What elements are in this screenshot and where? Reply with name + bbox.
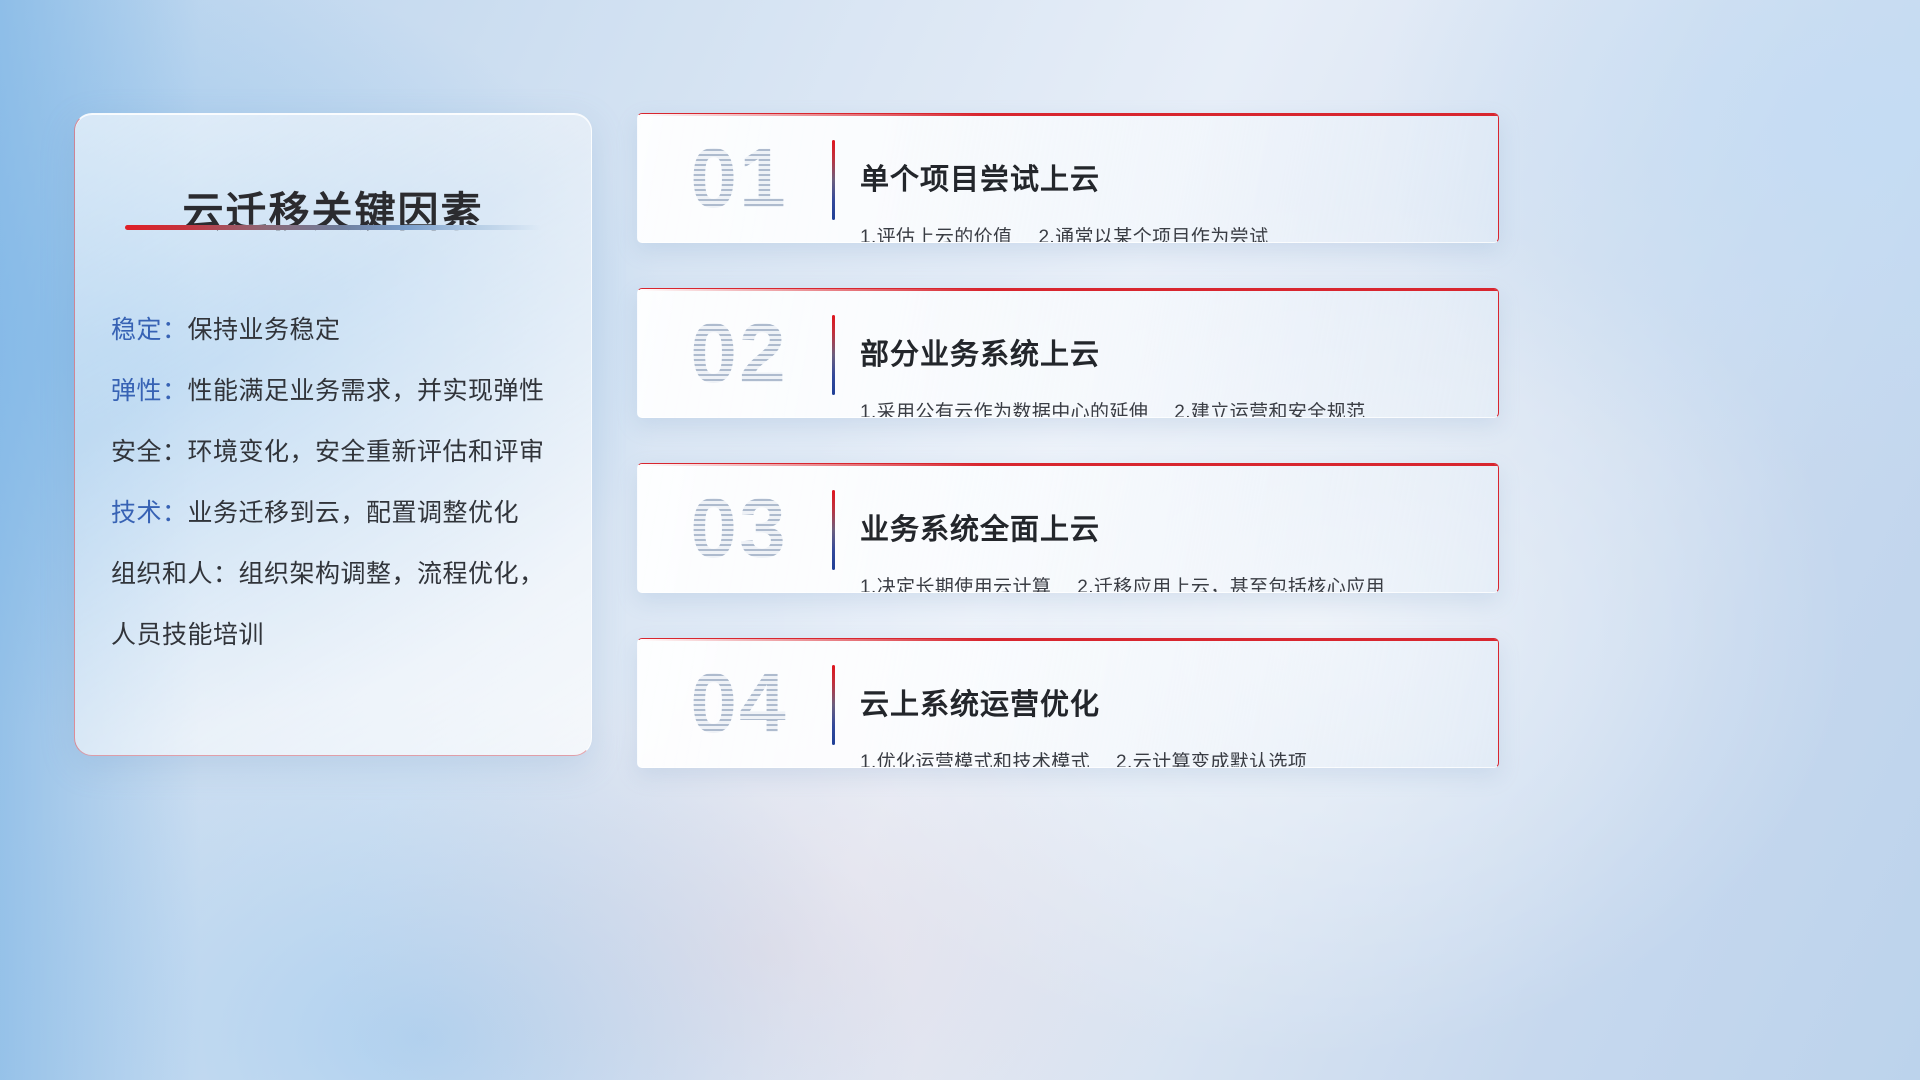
stage-card[interactable]: 04 04 云上系统运营优化 1.优化运营模式和技术模式2.云计算变成默认选项 [637,638,1499,768]
stage-desc-2: 2.建立运营和安全规范 [1174,402,1365,418]
list-item: 组织和人：组织架构调整，流程优化， [111,544,565,605]
title-divider [125,225,541,230]
stage-title: 单个项目尝试上云 [860,160,1472,200]
stage-desc-1: 1.采用公有云作为数据中心的延伸 [860,402,1148,418]
accent-bar [832,140,835,220]
stage-description: 1.优化运营模式和技术模式2.云计算变成默认选项 [860,749,1472,768]
stage-desc-2: 2.云计算变成默认选项 [1116,752,1307,768]
accent-bar [832,490,835,570]
list-item: 弹性：性能满足业务需求，并实现弹性 [111,361,565,422]
key-factors-panel: 云迁移关键因素 稳定：保持业务稳定 弹性：性能满足业务需求，并实现弹性 安全：环… [74,113,592,756]
list-item-text: 人员技能培训 [111,621,264,649]
stage-number: 01 [664,124,814,232]
list-item: 人员技能培训 [111,605,565,666]
stage-number: 02 [664,299,814,407]
list-item: 稳定：保持业务稳定 [111,300,565,361]
stage-number: 04 [664,649,814,757]
stage-card[interactable]: 03 03 业务系统全面上云 1.决定长期使用云计算2.迁移应用上云，甚至包括核… [637,463,1499,593]
stage-card-body: 单个项目尝试上云 1.评估上云的价值2.通常以某个项目作为尝试 [860,136,1472,243]
stage-cards: 01 01 单个项目尝试上云 1.评估上云的价值2.通常以某个项目作为尝试 02… [637,113,1499,813]
list-item-text: 环境变化，安全重新评估和评审 [188,438,545,466]
stage-description: 1.评估上云的价值2.通常以某个项目作为尝试 [860,224,1472,243]
list-item: 技术：业务迁移到云，配置调整优化 [111,483,565,544]
stage-card-body: 业务系统全面上云 1.决定长期使用云计算2.迁移应用上云，甚至包括核心应用 [860,486,1472,593]
list-item-label: 稳定： [111,316,188,344]
stage-desc-1: 1.优化运营模式和技术模式 [860,752,1090,768]
stage-number: 03 [664,474,814,582]
list-item-label: 安全： [111,438,188,466]
stage-card-body: 部分业务系统上云 1.采用公有云作为数据中心的延伸2.建立运营和安全规范 [860,311,1472,418]
stage-description: 1.采用公有云作为数据中心的延伸2.建立运营和安全规范 [860,399,1472,418]
list-item-label: 组织和人： [111,560,239,588]
list-item-label: 弹性： [111,377,188,405]
stage-title: 云上系统运营优化 [860,685,1472,725]
list-item-text: 组织架构调整，流程优化， [239,560,545,588]
list-item-text: 保持业务稳定 [188,316,341,344]
stage-card-body: 云上系统运营优化 1.优化运营模式和技术模式2.云计算变成默认选项 [860,661,1472,768]
accent-bar [832,315,835,395]
stage-desc-2: 2.迁移应用上云，甚至包括核心应用 [1077,577,1385,593]
stage-title: 部分业务系统上云 [860,335,1472,375]
stage-desc-1: 1.评估上云的价值 [860,227,1012,243]
list-item-text: 性能满足业务需求，并实现弹性 [188,377,545,405]
list-item-label: 技术： [111,499,188,527]
accent-bar [832,665,835,745]
key-factors-list: 稳定：保持业务稳定 弹性：性能满足业务需求，并实现弹性 安全：环境变化，安全重新… [111,300,565,666]
stage-desc-2: 2.通常以某个项目作为尝试 [1038,227,1268,243]
list-item: 安全：环境变化，安全重新评估和评审 [111,422,565,483]
stage-description: 1.决定长期使用云计算2.迁移应用上云，甚至包括核心应用 [860,574,1472,593]
list-item-text: 业务迁移到云，配置调整优化 [188,499,520,527]
stage-card[interactable]: 01 01 单个项目尝试上云 1.评估上云的价值2.通常以某个项目作为尝试 [637,113,1499,243]
stage-desc-1: 1.决定长期使用云计算 [860,577,1051,593]
stage-card[interactable]: 02 02 部分业务系统上云 1.采用公有云作为数据中心的延伸2.建立运营和安全… [637,288,1499,418]
stage-title: 业务系统全面上云 [860,510,1472,550]
